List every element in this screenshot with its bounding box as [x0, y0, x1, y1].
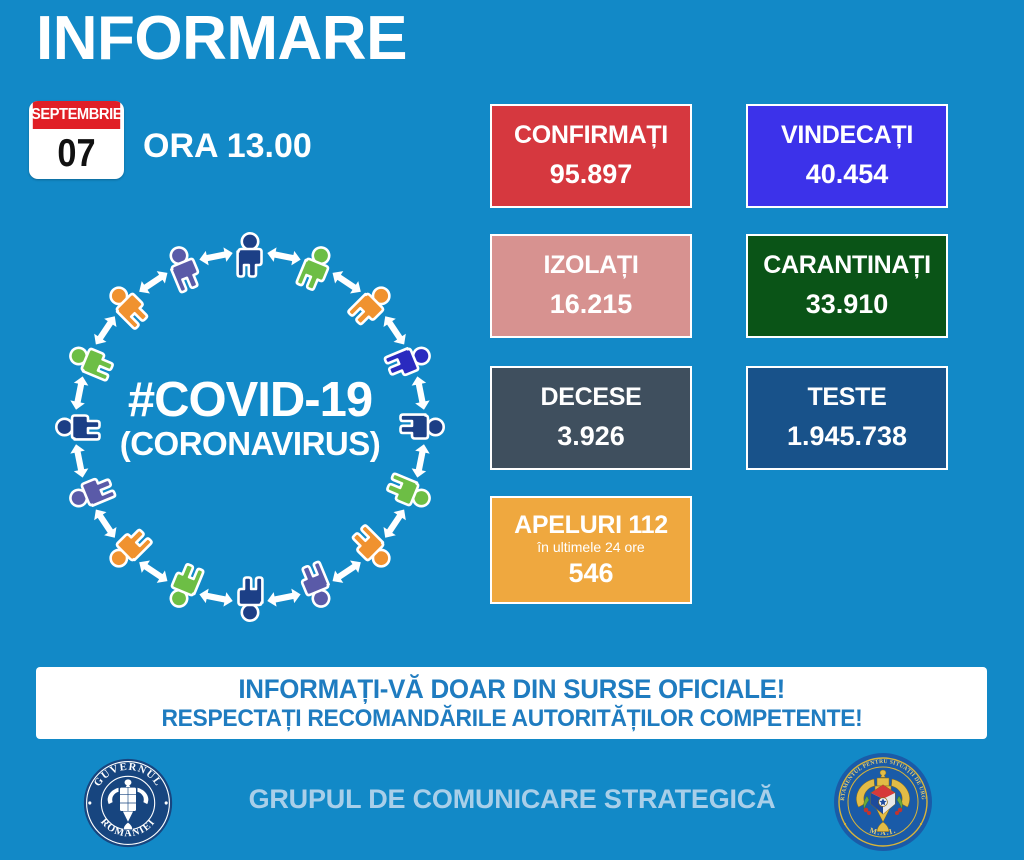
stat-box-izolati: IZOLAȚI 16.215 — [490, 234, 692, 338]
person-icon — [238, 233, 262, 276]
person-icon — [67, 474, 116, 513]
stat-label: IZOLAȚI — [543, 252, 638, 280]
double-arrow-icon — [266, 246, 302, 267]
stat-value: 95.897 — [550, 160, 633, 190]
stat-value: 546 — [568, 559, 613, 589]
poster-canvas: INFORMARE SEPTEMBRIE 07 ORA 13.00 — [0, 0, 1024, 860]
stat-value: 1.945.738 — [787, 422, 907, 452]
double-arrow-icon — [410, 375, 431, 411]
person-icon — [165, 562, 204, 611]
calendar-month-label: SEPTEMBRIE — [33, 101, 120, 129]
person-icon — [297, 561, 336, 610]
double-arrow-icon — [198, 246, 234, 267]
stat-label: CARANTINAȚI — [763, 252, 931, 280]
stat-value: 33.910 — [806, 290, 889, 320]
double-arrow-icon — [266, 587, 302, 608]
stat-value: 40.454 — [806, 160, 889, 190]
stat-box-vindecati: VINDECAȚI 40.454 — [746, 104, 948, 208]
double-arrow-icon — [379, 312, 410, 348]
double-arrow-icon — [328, 267, 364, 298]
dsu-mai-seal-icon: DEPARTAMENTUL PENTRU SITUAȚII DE URGENȚĂ… — [833, 752, 933, 852]
double-arrow-icon — [328, 556, 364, 587]
advice-banner: INFORMAȚI-VĂ DOAR DIN SURSE OFICIALE! RE… — [36, 667, 987, 739]
stat-box-confirmati: CONFIRMAȚI 95.897 — [490, 104, 692, 208]
people-distancing-ring-icon — [45, 222, 455, 632]
double-arrow-icon — [198, 587, 234, 608]
double-arrow-icon — [135, 556, 171, 587]
person-icon — [164, 244, 203, 293]
stat-value: 16.215 — [550, 290, 633, 320]
person-icon — [239, 578, 263, 621]
stat-label: DECESE — [540, 384, 641, 412]
stat-label: TESTE — [807, 384, 886, 412]
advice-line-1: INFORMAȚI-VĂ DOAR DIN SURSE OFICIALE! — [238, 674, 785, 705]
calendar-icon: SEPTEMBRIE 07 — [29, 101, 124, 179]
double-arrow-icon — [69, 375, 90, 411]
calendar-day-label: 07 — [35, 129, 119, 179]
person-icon — [66, 342, 115, 381]
double-arrow-icon — [90, 312, 121, 348]
advice-line-2: RESPECTAȚI RECOMANDĂRILE AUTORITĂȚILOR C… — [161, 705, 862, 733]
double-arrow-icon — [90, 505, 121, 541]
time-label: ORA 13.00 — [143, 129, 312, 163]
page-title: INFORMARE — [36, 8, 407, 70]
person-icon — [384, 341, 433, 380]
stat-box-decese: DECESE 3.926 — [490, 366, 692, 470]
stat-value: 3.926 — [557, 422, 625, 452]
stat-label: APELURI 112 — [514, 512, 668, 540]
person-icon — [401, 415, 444, 439]
person-icon — [385, 473, 434, 512]
stat-sublabel: în ultimele 24 ore — [537, 540, 644, 555]
stat-label: VINDECAȚI — [781, 122, 913, 150]
stat-label: CONFIRMAȚI — [514, 122, 668, 150]
person-icon — [296, 243, 335, 292]
stat-box-apeluri-112: APELURI 112 în ultimele 24 ore 546 — [490, 496, 692, 604]
stat-box-carantinati: CARANTINAȚI 33.910 — [746, 234, 948, 338]
stat-box-teste: TESTE 1.945.738 — [746, 366, 948, 470]
person-icon — [56, 416, 99, 440]
double-arrow-icon — [135, 267, 171, 298]
double-arrow-icon — [410, 443, 431, 479]
double-arrow-icon — [69, 443, 90, 479]
double-arrow-icon — [379, 505, 410, 541]
